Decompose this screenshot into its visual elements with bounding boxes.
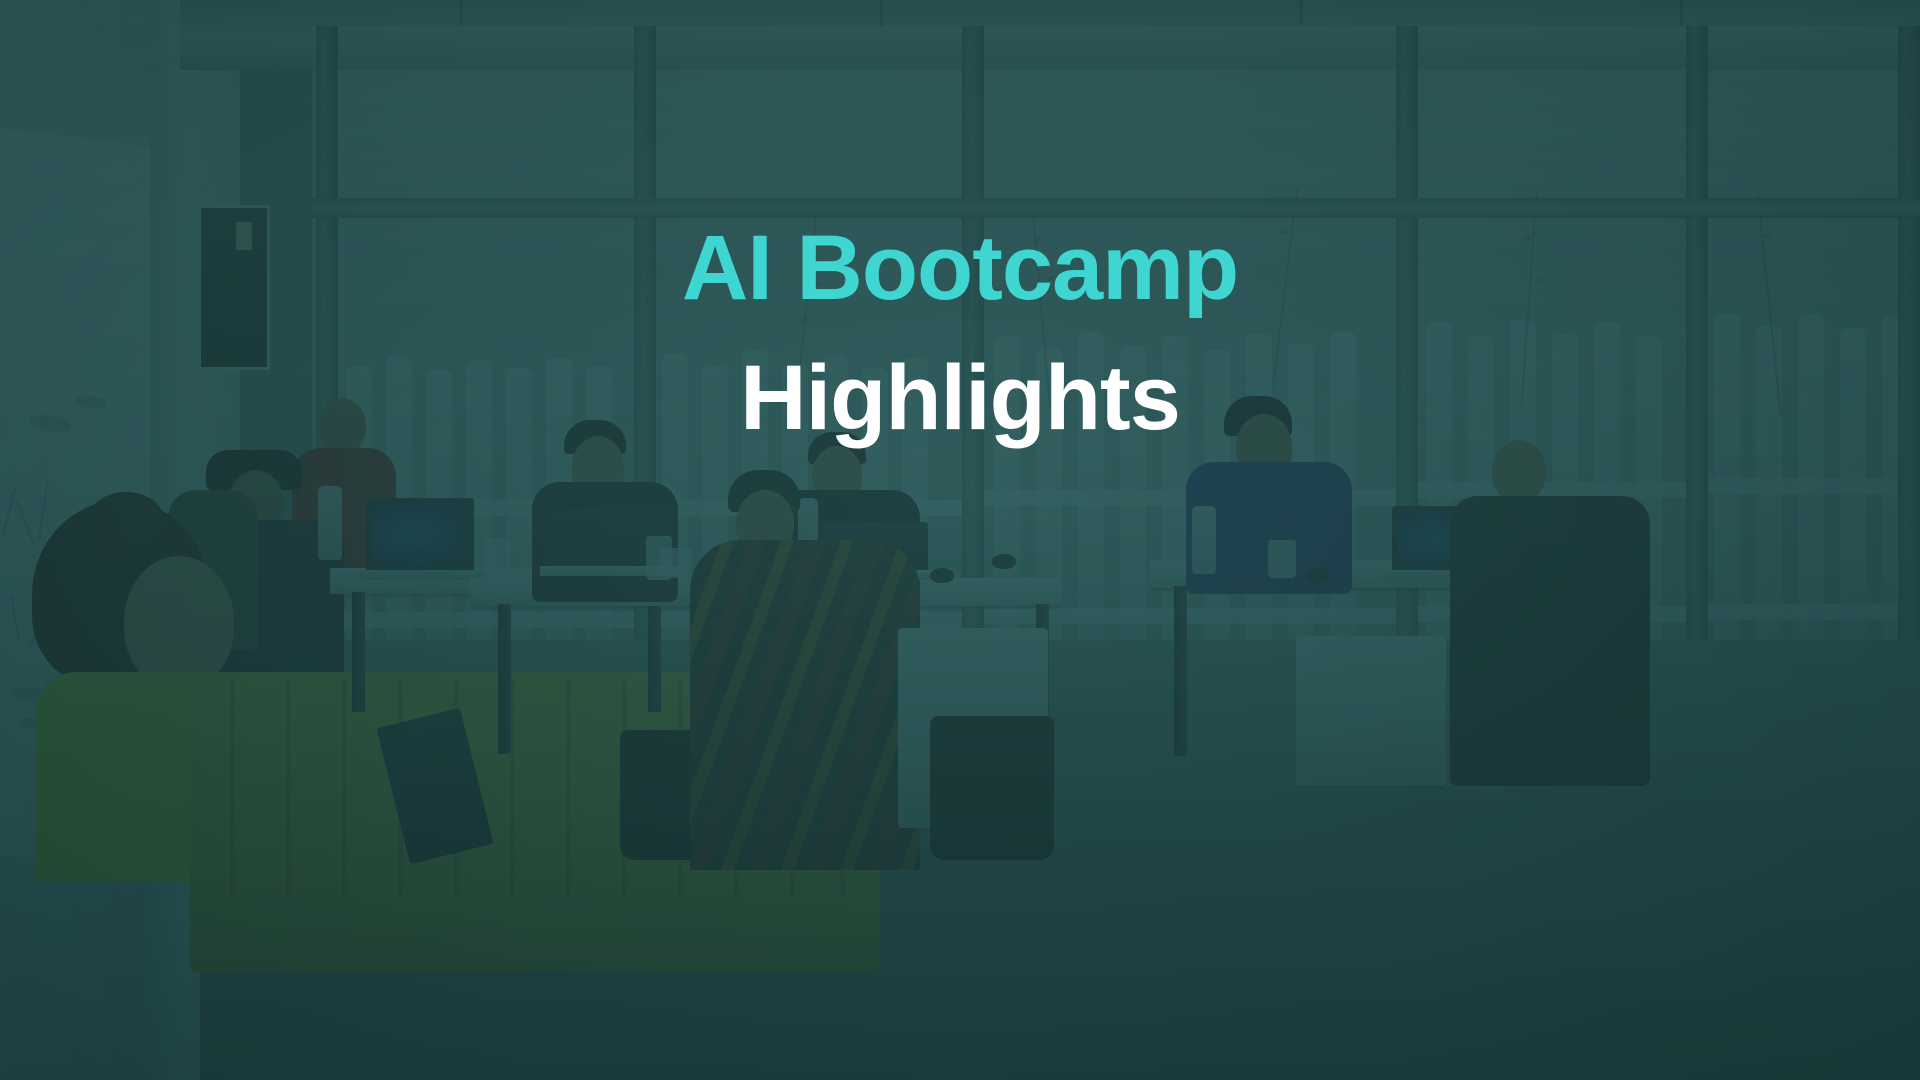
- title-line-primary: AI Bootcamp: [0, 222, 1920, 314]
- overlay-vignette: [0, 0, 1920, 1080]
- title-line-secondary: Highlights: [0, 352, 1920, 444]
- title-block: AI Bootcamp Highlights: [0, 222, 1920, 444]
- background-photo: [0, 0, 1920, 1080]
- slide-hero: AI Bootcamp Highlights: [0, 0, 1920, 1080]
